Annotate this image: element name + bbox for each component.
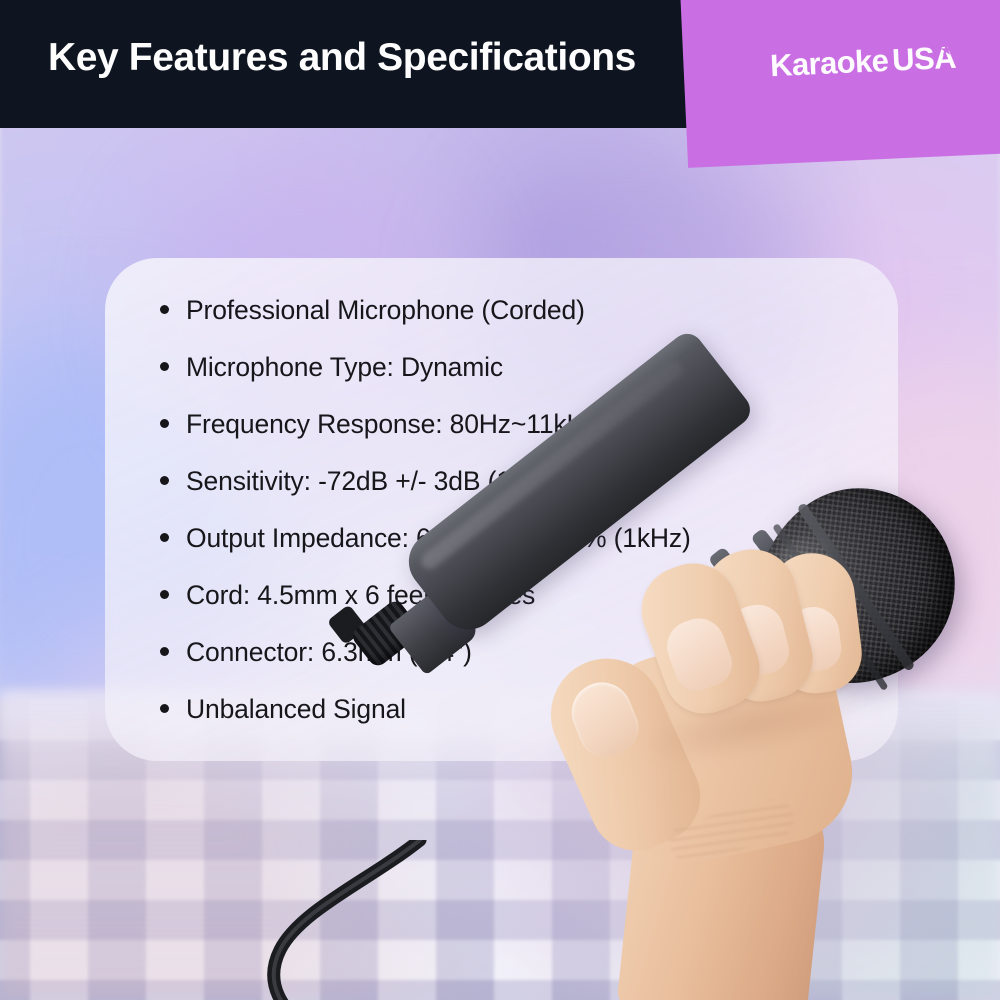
star-icon: ★ xyxy=(940,44,951,55)
page-title: Key Features and Specifications xyxy=(48,36,636,80)
brand-name-usa-wrap: USA★ xyxy=(891,40,956,79)
thumbnail xyxy=(563,673,646,764)
hand-holding-microphone xyxy=(540,575,1000,1000)
brand-name-karaoke: Karaoke xyxy=(769,43,889,83)
poster-canvas: Key Features and Specifications KaraokeU… xyxy=(0,0,1000,1000)
microphone-body-highlight xyxy=(418,358,687,573)
